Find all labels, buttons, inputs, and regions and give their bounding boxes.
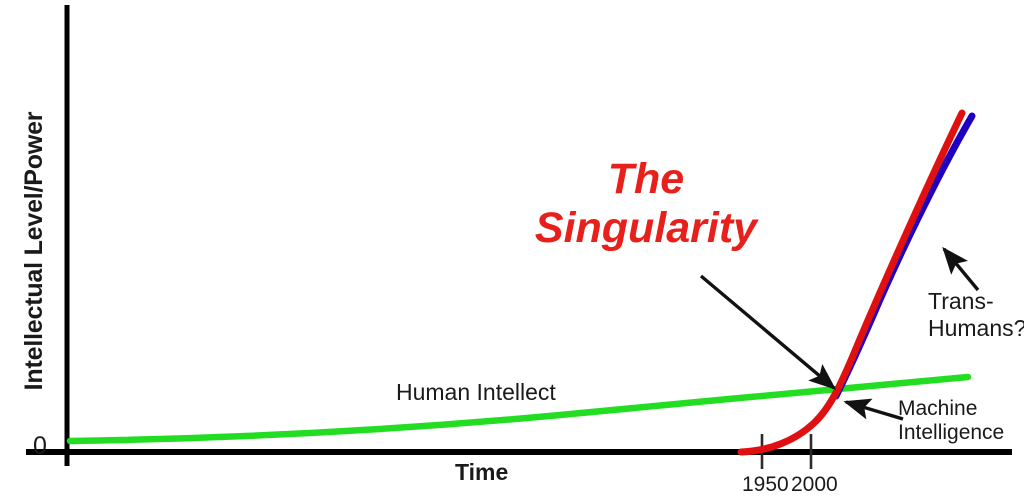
series-label-machine-intelligence-line-1: Machine [898,397,1004,421]
series-label-trans-humans-line-1: Trans- [928,288,1024,315]
x-tick-label-1950: 1950 [742,473,789,497]
y-axis-zero-label: 0 [33,432,47,461]
series-label-machine-intelligence: Machine Intelligence [898,397,1004,445]
chart-title-line-1: The [486,155,806,204]
chart-title-line-2: Singularity [486,204,806,253]
x-tick-label-2000: 2000 [791,473,838,497]
series-label-trans-humans: Trans- Humans? [928,288,1024,342]
y-axis-label: Intellectual Level/Power [4,0,64,502]
series-label-machine-intelligence-line-2: Intelligence [898,421,1004,445]
arrow-trans-humans [944,249,978,290]
chart-title: The Singularity [486,155,806,253]
x-axis-label: Time [455,459,508,486]
series-label-human-intellect: Human Intellect [396,379,556,406]
arrow-machine-intelligence [846,402,903,419]
arrow-singularity [701,276,834,388]
singularity-chart-figure: Intellectual Level/Power 0 Time 1950 200… [0,0,1024,502]
series-label-trans-humans-line-2: Humans? [928,315,1024,342]
